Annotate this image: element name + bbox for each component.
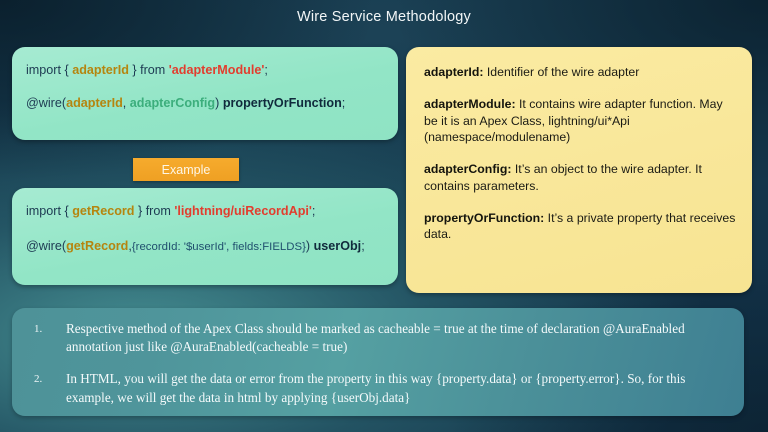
code-token: adapterConfig [130, 96, 215, 110]
note-term: adapterId: [424, 65, 483, 79]
note-item: adapterModule: It contains wire adapter … [424, 96, 736, 145]
code-token: 'adapterModule' [169, 63, 265, 77]
code-token: import { [26, 204, 72, 218]
page-title: Wire Service Methodology [0, 9, 768, 25]
code-token: , [123, 96, 130, 110]
note-term: adapterModule: [424, 97, 516, 111]
code-token: import { [26, 63, 72, 77]
slide-canvas: Wire Service Methodology import { adapte… [0, 0, 768, 432]
code-token: propertyOrFunction [223, 96, 342, 110]
list-item-number: 2. [26, 370, 66, 385]
note-term: propertyOrFunction: [424, 211, 544, 225]
code-token: @wire( [26, 239, 66, 253]
code-token: ; [312, 204, 316, 218]
code-token: @wire( [26, 96, 66, 110]
note-item: propertyOrFunction: It’s a private prope… [424, 210, 736, 243]
list-item-number: 1. [26, 320, 66, 335]
code-token: ) [215, 96, 223, 110]
code-token: adapterId [72, 63, 129, 77]
list-item: 1. Respective method of the Apex Class s… [26, 320, 726, 356]
code-line: import { adapterId } from 'adapterModule… [26, 63, 384, 77]
code-line: @wire(adapterId, adapterConfig) property… [26, 96, 384, 110]
note-item: adapterConfig: It’s an object to the wir… [424, 161, 736, 194]
list-item-text: In HTML, you will get the data or error … [66, 370, 726, 406]
code-token: ; [361, 239, 365, 253]
code-token: ; [264, 63, 268, 77]
list-item: 2. In HTML, you will get the data or err… [26, 370, 726, 406]
example-code-block: import { getRecord } from 'lightning/uiR… [12, 188, 398, 285]
code-line: @wire(getRecord,{recordId: '$userId', fi… [26, 239, 384, 254]
note-term: adapterConfig: [424, 162, 511, 176]
note-description: Identifier of the wire adapter [483, 65, 639, 79]
notes-panel: adapterId: Identifier of the wire adapte… [406, 47, 752, 293]
code-line: import { getRecord } from 'lightning/uiR… [26, 204, 384, 218]
code-token: {recordId: '$userId', fields:FIELDS} [132, 241, 306, 253]
code-token: getRecord [72, 204, 134, 218]
code-token: getRecord [66, 239, 128, 253]
syntax-code-block: import { adapterId } from 'adapterModule… [12, 47, 398, 140]
list-item-text: Respective method of the Apex Class shou… [66, 320, 726, 356]
code-token: ) [306, 239, 314, 253]
note-item: adapterId: Identifier of the wire adapte… [424, 64, 736, 80]
code-token: userObj [314, 239, 362, 253]
code-token: adapterId [66, 96, 123, 110]
code-token: 'lightning/uiRecordApi' [174, 204, 312, 218]
code-token: } from [134, 204, 174, 218]
code-token: } from [129, 63, 169, 77]
footer-notes-panel: 1. Respective method of the Apex Class s… [12, 308, 744, 416]
code-token: ; [342, 96, 346, 110]
example-label-button[interactable]: Example [133, 158, 239, 181]
